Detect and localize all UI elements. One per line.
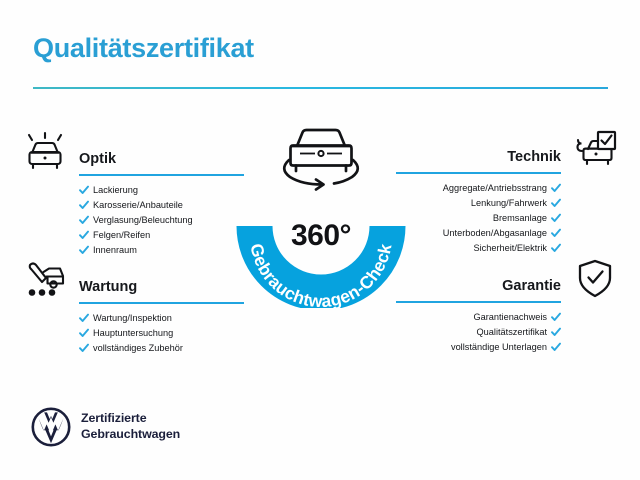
section-technik-header: Technik <box>396 128 618 174</box>
check-icon <box>79 245 89 255</box>
section-wartung-title: Wartung <box>79 279 137 295</box>
vw-certified-logo: Zertifizierte Gebrauchtwagen <box>31 405 231 451</box>
section-optik-header: Optik <box>22 130 244 176</box>
list-item: vollständige Unterlagen <box>396 340 618 355</box>
list-item-label: Verglasung/Beleuchtung <box>93 213 193 228</box>
car-shine-icon <box>22 131 68 173</box>
certificate-page: Qualitätszertifikat <box>0 0 640 480</box>
check-icon <box>551 213 561 223</box>
check-icon <box>551 198 561 208</box>
list-item: Hauptuntersuchung <box>22 326 244 341</box>
badge-center-label: 360° <box>233 219 409 253</box>
list-item: Qualitätszertifikat <box>396 325 618 340</box>
car-wrench-icon <box>22 259 68 301</box>
list-item-label: Innenraum <box>93 243 137 258</box>
list-item-label: Unterboden/Abgasanlage <box>443 226 547 241</box>
car-checkbox-icon <box>572 129 618 171</box>
list-item-label: Aggregate/Antriebsstrang <box>443 181 547 196</box>
check-icon <box>79 215 89 225</box>
list-item: Sicherheit/Elektrik <box>396 241 618 256</box>
list-item: Verglasung/Beleuchtung <box>22 213 244 228</box>
list-item: Innenraum <box>22 243 244 258</box>
list-item: Karosserie/Anbauteile <box>22 198 244 213</box>
section-wartung-divider <box>79 302 244 304</box>
section-technik-divider <box>396 172 561 174</box>
section-garantie-title: Garantie <box>502 278 561 294</box>
section-optik-list: Lackierung Karosserie/Anbauteile Verglas… <box>22 176 244 258</box>
list-item-label: vollständiges Zubehör <box>93 341 183 356</box>
page-title: Qualitätszertifikat <box>33 33 254 64</box>
list-item-label: Bremsanlage <box>493 211 547 226</box>
list-item-label: Qualitätszertifikat <box>477 325 547 340</box>
section-technik-title: Technik <box>507 149 561 165</box>
list-item-label: Sicherheit/Elektrik <box>473 241 547 256</box>
check-icon <box>79 200 89 210</box>
shield-check-icon <box>572 258 618 300</box>
list-item-label: Felgen/Reifen <box>93 228 150 243</box>
section-garantie-list: Garantienachweis Qualitätszertifikat vol… <box>396 303 618 355</box>
section-optik-divider <box>79 174 244 176</box>
section-optik: Optik Lackierung Karosserie/Anbauteile V… <box>22 130 244 258</box>
check-icon <box>79 313 89 323</box>
list-item-label: Wartung/Inspektion <box>93 311 172 326</box>
list-item: Aggregate/Antriebsstrang <box>396 181 618 196</box>
check-icon <box>551 312 561 322</box>
vw-logo-line2: Gebrauchtwagen <box>81 426 180 442</box>
list-item: Felgen/Reifen <box>22 228 244 243</box>
section-wartung-list: Wartung/Inspektion Hauptuntersuchung vol… <box>22 304 244 356</box>
check-icon <box>551 327 561 337</box>
check-icon <box>551 342 561 352</box>
section-wartung: Wartung Wartung/Inspektion Hauptuntersuc… <box>22 258 244 356</box>
check-icon <box>79 343 89 353</box>
list-item-label: Lackierung <box>93 183 138 198</box>
section-wartung-header: Wartung <box>22 258 244 304</box>
gebrauchtwagen-check-badge: Gebrauchtwagen-Check 360° <box>233 118 409 308</box>
title-divider <box>33 87 608 89</box>
check-icon <box>551 183 561 193</box>
list-item: Unterboden/Abgasanlage <box>396 226 618 241</box>
list-item-label: Lenkung/Fahrwerk <box>471 196 547 211</box>
list-item: Lackierung <box>22 183 244 198</box>
list-item-label: Hauptuntersuchung <box>93 326 173 341</box>
check-icon <box>79 230 89 240</box>
vw-logo-line1: Zertifizierte <box>81 410 180 426</box>
section-technik: Technik Aggregate/Antriebsstrang Lenkung… <box>396 128 618 256</box>
list-item: Bremsanlage <box>396 211 618 226</box>
vw-logo-wordmark: Zertifizierte Gebrauchtwagen <box>81 410 180 442</box>
vw-logo-icon <box>31 407 71 447</box>
check-icon <box>551 228 561 238</box>
section-garantie-divider <box>396 301 561 303</box>
check-icon <box>79 185 89 195</box>
section-technik-list: Aggregate/Antriebsstrang Lenkung/Fahrwer… <box>396 174 618 256</box>
list-item: vollständiges Zubehör <box>22 341 244 356</box>
list-item-label: Garantienachweis <box>473 310 547 325</box>
list-item: Wartung/Inspektion <box>22 311 244 326</box>
section-garantie-header: Garantie <box>396 257 618 303</box>
check-icon <box>551 243 561 253</box>
check-icon <box>79 328 89 338</box>
list-item: Lenkung/Fahrwerk <box>396 196 618 211</box>
section-optik-title: Optik <box>79 151 116 167</box>
section-garantie: Garantie Garantienachweis Qualitätszerti… <box>396 257 618 355</box>
list-item-label: vollständige Unterlagen <box>451 340 547 355</box>
list-item: Garantienachweis <box>396 310 618 325</box>
list-item-label: Karosserie/Anbauteile <box>93 198 183 213</box>
